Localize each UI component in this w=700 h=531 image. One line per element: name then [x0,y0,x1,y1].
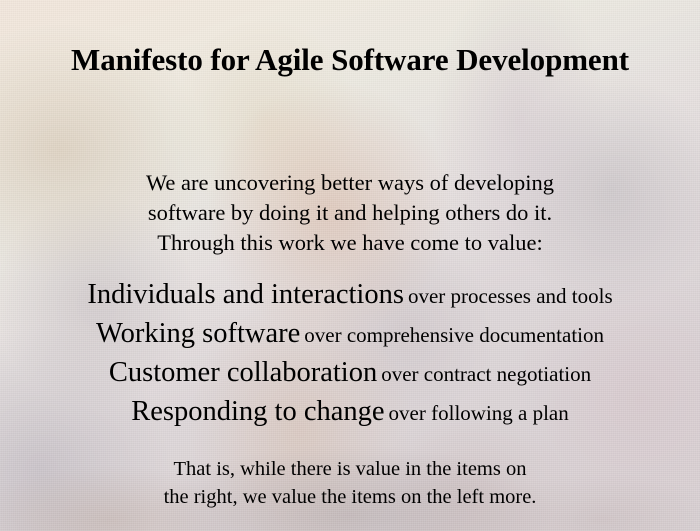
intro-line: software by doing it and helping others … [0,198,700,228]
value-statement: Responding to change over following a pl… [0,394,700,433]
value-lesser-item: over comprehensive documentation [304,323,604,347]
intro-line: Through this work we have come to value: [0,228,700,258]
slide-content: Manifesto for Agile Software Development… [0,0,700,531]
slide-canvas: Manifesto for Agile Software Development… [0,0,700,531]
value-lesser-item: over following a plan [389,401,569,425]
closing-line: That is, while there is value in the ite… [0,455,700,483]
value-lesser-item: over processes and tools [408,284,613,308]
value-lesser-item: over contract negotiation [381,362,591,386]
value-preferred-item: Responding to change [131,396,384,427]
value-statement: Individuals and interactions over proces… [0,277,700,316]
value-preferred-item: Working software [96,318,300,349]
value-statement: Working software over comprehensive docu… [0,316,700,355]
value-preferred-item: Individuals and interactions [87,279,404,310]
slide-title: Manifesto for Agile Software Development [0,43,700,77]
value-statements-list: Individuals and interactions over proces… [0,277,700,433]
closing-line: the right, we value the items on the lef… [0,483,700,511]
intro-line: We are uncovering better ways of develop… [0,168,700,198]
closing-paragraph: That is, while there is value in the ite… [0,455,700,511]
value-preferred-item: Customer collaboration [109,357,377,388]
value-statement: Customer collaboration over contract neg… [0,355,700,394]
intro-paragraph: We are uncovering better ways of develop… [0,168,700,258]
